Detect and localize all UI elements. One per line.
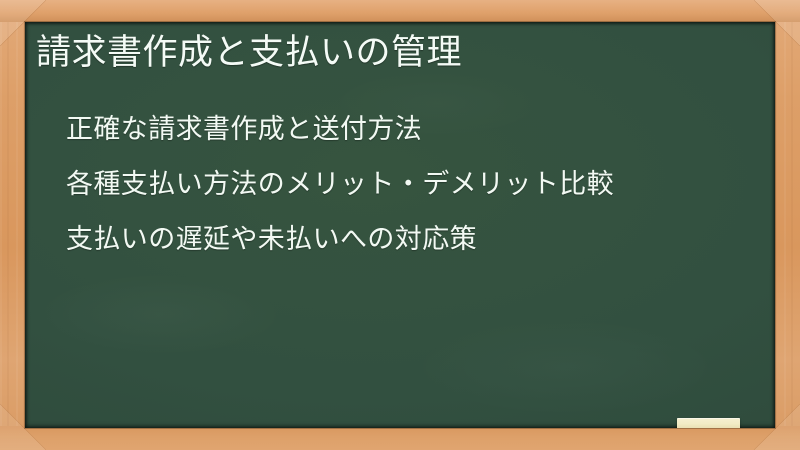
bullet-item: 支払いの遅延や未払いへの対応策: [66, 212, 766, 267]
chalk-stick: [677, 418, 740, 428]
bullet-item: 正確な請求書作成と送付方法: [66, 102, 766, 157]
frame-top-rail: [0, 0, 800, 22]
slide-canvas: 請求書作成と支払いの管理 正確な請求書作成と送付方法 各種支払い方法のメリット・…: [0, 0, 800, 450]
frame-bottom-rail: [0, 426, 800, 450]
chalkboard-surface: 請求書作成と支払いの管理 正確な請求書作成と送付方法 各種支払い方法のメリット・…: [25, 22, 775, 428]
bullet-item: 各種支払い方法のメリット・デメリット比較: [66, 157, 766, 212]
chalkboard-content: 請求書作成と支払いの管理 正確な請求書作成と送付方法 各種支払い方法のメリット・…: [25, 22, 775, 428]
bullet-list: 正確な請求書作成と送付方法 各種支払い方法のメリット・デメリット比較 支払いの遅…: [66, 102, 766, 267]
slide-title: 請求書作成と支払いの管理: [36, 29, 462, 77]
